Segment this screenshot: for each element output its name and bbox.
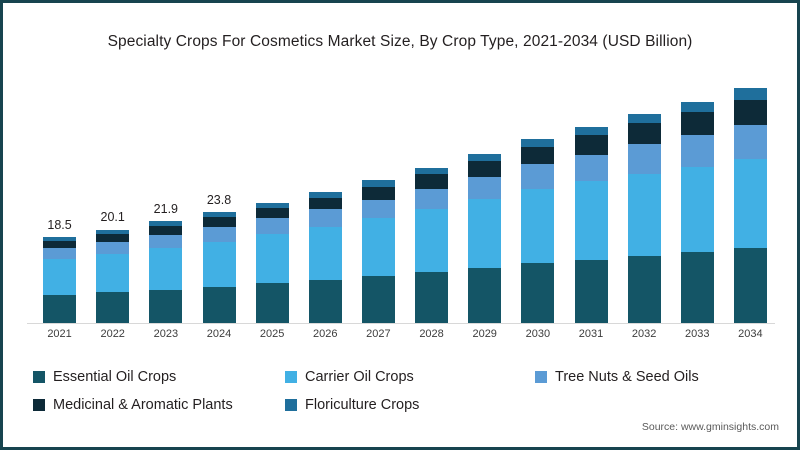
- bar-segment[interactable]: [734, 159, 767, 247]
- stacked-bar[interactable]: [734, 88, 767, 323]
- bar-segment[interactable]: [681, 167, 714, 252]
- stacked-bar[interactable]: [415, 168, 448, 323]
- bar-column[interactable]: 18.5: [43, 81, 76, 323]
- legend-swatch-icon: [285, 371, 297, 383]
- bar-segment[interactable]: [309, 209, 342, 226]
- bar-segment[interactable]: [415, 189, 448, 209]
- bar-segment[interactable]: [681, 135, 714, 167]
- bar-segment[interactable]: [149, 248, 182, 289]
- bar-column[interactable]: [415, 81, 448, 323]
- bar-segment[interactable]: [256, 218, 289, 234]
- x-axis-tick-label: 2026: [309, 328, 342, 340]
- bar-column[interactable]: 23.8: [203, 81, 236, 323]
- bar-segment[interactable]: [309, 198, 342, 210]
- legend-item[interactable]: Floriculture Crops: [285, 397, 419, 413]
- bar-column[interactable]: [362, 81, 395, 323]
- stacked-bar[interactable]: [362, 180, 395, 323]
- bar-column[interactable]: [681, 81, 714, 323]
- bar-segment[interactable]: [628, 123, 661, 144]
- x-axis-line: [27, 323, 775, 324]
- x-axis-tick-label: 2031: [575, 328, 608, 340]
- legend-item[interactable]: Essential Oil Crops: [33, 369, 176, 385]
- x-axis-tick-label: 2034: [734, 328, 767, 340]
- bar-segment[interactable]: [521, 189, 554, 264]
- legend-label: Carrier Oil Crops: [305, 369, 414, 385]
- legend-swatch-icon: [33, 399, 45, 411]
- x-axis-tick-label: 2033: [681, 328, 714, 340]
- bar-segment[interactable]: [149, 235, 182, 248]
- bar-segment[interactable]: [468, 177, 501, 199]
- bar-column[interactable]: 20.1: [96, 81, 129, 323]
- x-axis-tick-label: 2030: [521, 328, 554, 340]
- legend-item[interactable]: Tree Nuts & Seed Oils: [535, 369, 699, 385]
- legend-swatch-icon: [33, 371, 45, 383]
- chart-legend: Essential Oil CropsCarrier Oil CropsTree…: [33, 369, 773, 425]
- bar-segment[interactable]: [521, 139, 554, 147]
- bar-segment[interactable]: [628, 256, 661, 323]
- bar-segment[interactable]: [468, 199, 501, 268]
- bar-column[interactable]: [521, 81, 554, 323]
- bar-segment[interactable]: [43, 259, 76, 294]
- bar-segment[interactable]: [256, 283, 289, 323]
- stacked-bar[interactable]: [203, 212, 236, 323]
- bar-segment[interactable]: [575, 135, 608, 154]
- x-axis-tick-label: 2024: [203, 328, 236, 340]
- bar-segment[interactable]: [309, 280, 342, 323]
- stacked-bar[interactable]: [575, 127, 608, 323]
- bar-segment[interactable]: [309, 227, 342, 281]
- legend-item[interactable]: Medicinal & Aromatic Plants: [33, 397, 233, 413]
- bar-column[interactable]: [734, 81, 767, 323]
- bar-segment[interactable]: [734, 125, 767, 159]
- bar-segment[interactable]: [149, 226, 182, 235]
- bar-segment[interactable]: [149, 290, 182, 324]
- x-axis-tick-label: 2025: [256, 328, 289, 340]
- x-axis-labels: 2021202220232024202520262027202820292030…: [33, 328, 777, 348]
- bar-value-label: 23.8: [207, 193, 231, 207]
- bar-segment[interactable]: [362, 187, 395, 200]
- legend-row: Essential Oil CropsCarrier Oil CropsTree…: [33, 369, 773, 397]
- legend-label: Essential Oil Crops: [53, 369, 176, 385]
- bar-segment[interactable]: [43, 248, 76, 259]
- bar-segment[interactable]: [362, 218, 395, 276]
- bar-column[interactable]: [256, 81, 289, 323]
- bar-value-label: 20.1: [101, 210, 125, 224]
- legend-label: Medicinal & Aromatic Plants: [53, 397, 233, 413]
- bar-segment[interactable]: [362, 200, 395, 219]
- bar-column[interactable]: [468, 81, 501, 323]
- x-axis-tick-label: 2023: [149, 328, 182, 340]
- bar-segment[interactable]: [628, 174, 661, 256]
- bar-column[interactable]: [628, 81, 661, 323]
- bar-segment[interactable]: [96, 254, 129, 292]
- legend-item[interactable]: Carrier Oil Crops: [285, 369, 414, 385]
- x-axis-tick-label: 2029: [468, 328, 501, 340]
- legend-swatch-icon: [285, 399, 297, 411]
- stacked-bar[interactable]: [681, 102, 714, 323]
- x-axis-tick-label: 2021: [43, 328, 76, 340]
- bar-value-label: 21.9: [154, 202, 178, 216]
- bar-segment[interactable]: [628, 144, 661, 173]
- legend-label: Floriculture Crops: [305, 397, 419, 413]
- bar-segment[interactable]: [575, 127, 608, 136]
- stacked-bar[interactable]: [309, 192, 342, 323]
- x-axis-tick-label: 2022: [96, 328, 129, 340]
- bar-segment[interactable]: [43, 295, 76, 323]
- bar-column[interactable]: 21.9: [149, 81, 182, 323]
- bar-segment[interactable]: [521, 147, 554, 164]
- stacked-bar[interactable]: [149, 221, 182, 323]
- bar-segment[interactable]: [575, 260, 608, 323]
- bar-segment[interactable]: [734, 100, 767, 125]
- x-axis-tick-label: 2028: [415, 328, 448, 340]
- bar-segment[interactable]: [681, 112, 714, 135]
- bar-segment[interactable]: [256, 208, 289, 219]
- bar-segment[interactable]: [468, 154, 501, 161]
- bar-column[interactable]: [309, 81, 342, 323]
- bar-segment[interactable]: [575, 181, 608, 260]
- bar-segment[interactable]: [734, 88, 767, 100]
- bar-segment[interactable]: [415, 272, 448, 323]
- bar-segment[interactable]: [96, 242, 129, 254]
- stacked-bar[interactable]: [521, 139, 554, 323]
- bar-segment[interactable]: [575, 155, 608, 182]
- legend-swatch-icon: [535, 371, 547, 383]
- bar-segment[interactable]: [43, 241, 76, 248]
- bar-segment[interactable]: [203, 217, 236, 227]
- bar-segment[interactable]: [415, 174, 448, 188]
- stacked-bar[interactable]: [96, 229, 129, 323]
- stacked-bar[interactable]: [256, 202, 289, 323]
- bar-segment[interactable]: [468, 268, 501, 323]
- bar-column[interactable]: [575, 81, 608, 323]
- x-axis-tick-label: 2032: [628, 328, 661, 340]
- legend-label: Tree Nuts & Seed Oils: [555, 369, 699, 385]
- bar-segment[interactable]: [203, 287, 236, 323]
- bar-segment[interactable]: [681, 252, 714, 323]
- bar-segment[interactable]: [681, 102, 714, 112]
- bar-segment[interactable]: [203, 242, 236, 287]
- chart-title: Specialty Crops For Cosmetics Market Siz…: [3, 33, 797, 51]
- bar-segment[interactable]: [96, 292, 129, 323]
- chart-frame: Specialty Crops For Cosmetics Market Siz…: [0, 0, 800, 450]
- bar-segment[interactable]: [96, 234, 129, 242]
- plot-area: 18.520.121.923.8: [33, 81, 777, 323]
- bar-segment[interactable]: [468, 161, 501, 177]
- stacked-bar[interactable]: [628, 114, 661, 323]
- bar-segment[interactable]: [521, 164, 554, 188]
- bar-segment[interactable]: [256, 234, 289, 283]
- bar-segment[interactable]: [521, 263, 554, 323]
- bar-segment[interactable]: [734, 248, 767, 323]
- x-axis-tick-label: 2027: [362, 328, 395, 340]
- stacked-bar[interactable]: [43, 237, 76, 323]
- bar-segment[interactable]: [415, 209, 448, 272]
- bar-value-label: 18.5: [47, 218, 71, 232]
- stacked-bar[interactable]: [468, 154, 501, 323]
- bar-segment[interactable]: [203, 227, 236, 241]
- source-attribution: Source: www.gminsights.com: [642, 421, 779, 433]
- bar-segment[interactable]: [362, 276, 395, 323]
- bar-segment[interactable]: [628, 114, 661, 124]
